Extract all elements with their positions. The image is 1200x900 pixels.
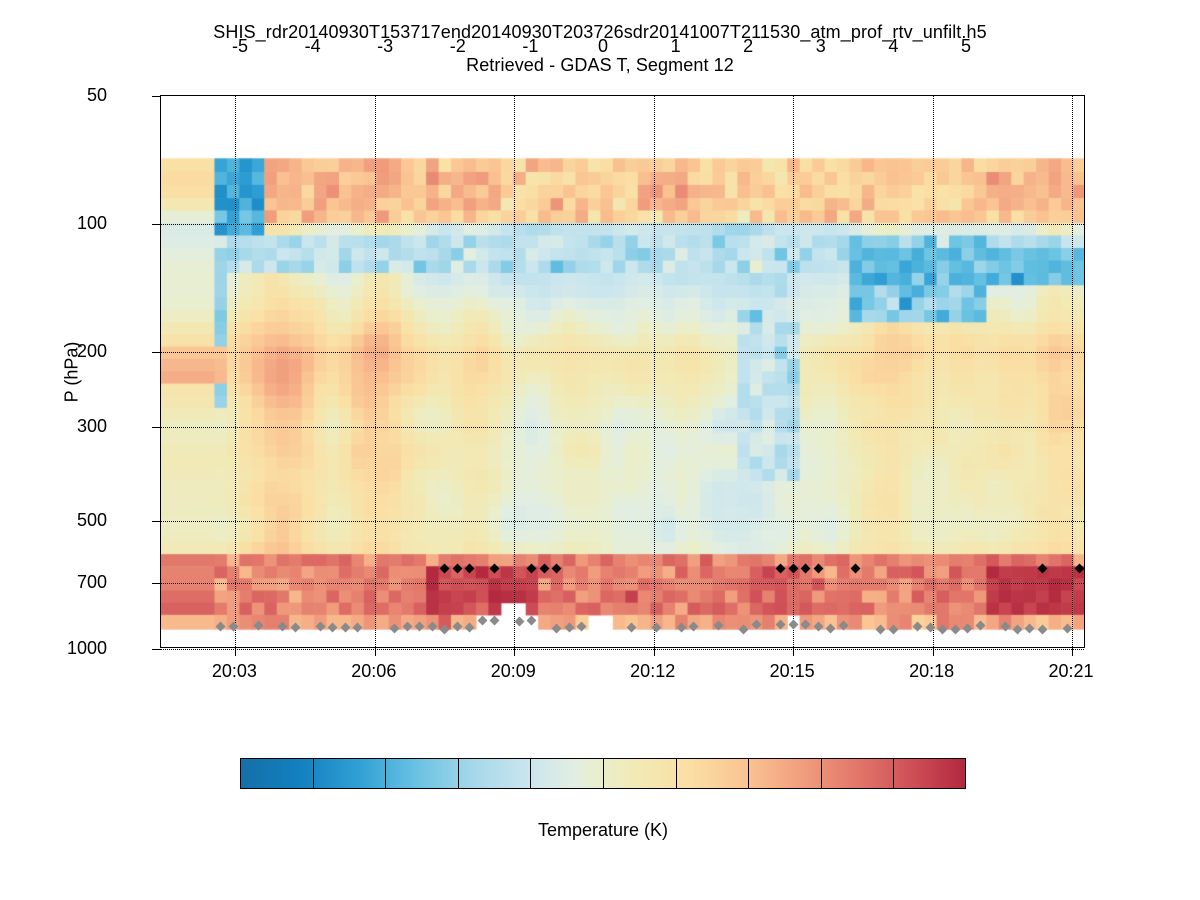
x-axis-tick <box>514 647 515 656</box>
gridline-horizontal <box>161 352 1084 353</box>
colorbar-tick <box>603 758 604 789</box>
page-subtitle: Retrieved - GDAS T, Segment 12 <box>0 55 1200 76</box>
colorbar-tick-label: 4 <box>853 36 933 57</box>
colorbar-tick-label: -3 <box>345 36 425 57</box>
gridline-vertical <box>933 96 934 647</box>
x-axis-tick-label: 20:21 <box>1016 662 1126 680</box>
gridline-vertical <box>375 96 376 647</box>
y-axis-tick <box>152 649 161 650</box>
gridline-vertical <box>1072 96 1073 647</box>
colorbar-tick <box>676 758 677 789</box>
gridline-horizontal <box>161 224 1084 225</box>
y-axis-tick-label: 50 <box>0 86 107 104</box>
y-axis-tick-label: 500 <box>0 511 107 529</box>
colorbar-tick-label: 5 <box>926 36 1006 57</box>
colorbar-tick-label: 0 <box>563 36 643 57</box>
colorbar-tick <box>530 758 531 789</box>
figure-root: SHIS_rdr20140930T153717end20140930T20372… <box>0 0 1200 900</box>
x-axis-tick-label: 20:03 <box>179 662 289 680</box>
colorbar <box>240 758 966 789</box>
colorbar-tick-label: 2 <box>708 36 788 57</box>
x-axis-tick-label: 20:09 <box>458 662 568 680</box>
gridline-horizontal <box>161 427 1084 428</box>
x-axis-tick <box>654 647 655 656</box>
y-axis-tick-label: 100 <box>0 214 107 232</box>
colorbar-tick-label: 3 <box>781 36 861 57</box>
x-axis-tick <box>235 647 236 656</box>
colorbar-tick <box>748 758 749 789</box>
gridline-horizontal <box>161 521 1084 522</box>
y-axis-tick <box>152 427 161 428</box>
y-axis-tick <box>152 224 161 225</box>
colorbar-tick-label: -5 <box>200 36 280 57</box>
y-axis-tick-label: 1000 <box>0 639 107 657</box>
y-axis-tick <box>152 352 161 353</box>
heatmap-canvas <box>161 96 1084 647</box>
plot-area <box>160 95 1085 648</box>
y-axis-tick <box>152 583 161 584</box>
colorbar-tick-label: -2 <box>418 36 498 57</box>
x-axis-tick-label: 20:12 <box>598 662 708 680</box>
colorbar-tick <box>458 758 459 789</box>
x-axis-tick-label: 20:06 <box>319 662 429 680</box>
colorbar-tick-label: -1 <box>490 36 570 57</box>
x-axis-tick <box>793 647 794 656</box>
colorbar-tick-label: -4 <box>273 36 353 57</box>
gridline-vertical <box>235 96 236 647</box>
x-axis-tick <box>1072 647 1073 656</box>
heatmap-clip <box>161 96 1084 647</box>
gridline-horizontal <box>161 583 1084 584</box>
colorbar-tick <box>385 758 386 789</box>
x-axis-tick-label: 20:15 <box>737 662 847 680</box>
y-axis-tick-label: 300 <box>0 417 107 435</box>
y-axis-tick <box>152 96 161 97</box>
colorbar-tick <box>313 758 314 789</box>
colorbar-tick <box>893 758 894 789</box>
gridline-vertical <box>514 96 515 647</box>
y-axis-tick <box>152 521 161 522</box>
y-axis-tick-label: 200 <box>0 342 107 360</box>
colorbar-tick-label: 1 <box>636 36 716 57</box>
y-axis-tick-label: 700 <box>0 573 107 591</box>
colorbar-tick <box>821 758 822 789</box>
x-axis-tick-label: 20:18 <box>877 662 987 680</box>
gridline-vertical <box>654 96 655 647</box>
gridline-horizontal <box>161 649 1084 650</box>
x-axis-tick <box>375 647 376 656</box>
x-axis-tick <box>933 647 934 656</box>
colorbar-title: Temperature (K) <box>240 820 966 841</box>
